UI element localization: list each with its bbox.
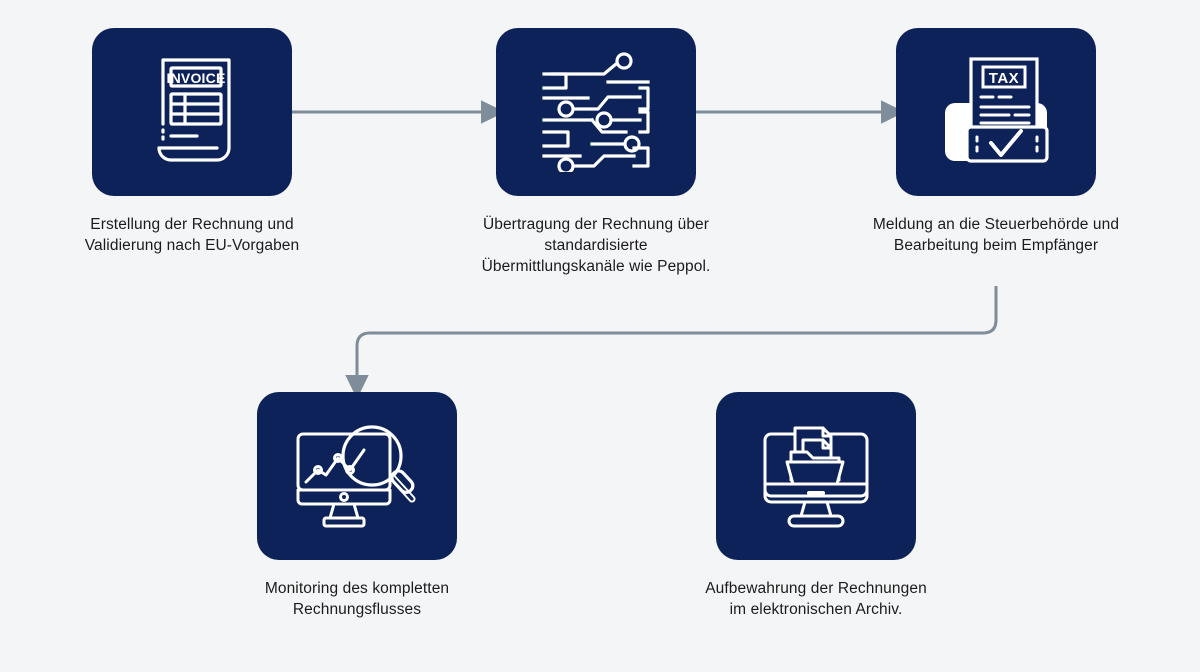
step-2-tile[interactable] — [496, 28, 696, 196]
invoice-document-icon: INVOICE — [137, 52, 247, 172]
step-5-tile[interactable] — [716, 392, 916, 560]
step-node-4[interactable]: Monitoring des kompletten Rechnungsfluss… — [257, 392, 457, 620]
step-5-caption: Aufbewahrung der Rechnungen im elektroni… — [701, 578, 931, 620]
step-node-2[interactable]: Übertragung der Rechnung über standardis… — [496, 28, 696, 277]
monitor-chart-magnifier-icon — [294, 420, 420, 532]
tax-document-tray-check-icon: TAX — [937, 53, 1055, 171]
invoice-icon-label: INVOICE — [167, 70, 226, 86]
step-node-5[interactable]: Aufbewahrung der Rechnungen im elektroni… — [716, 392, 916, 620]
step-4-tile[interactable] — [257, 392, 457, 560]
monitor-folder-archive-icon — [761, 418, 871, 534]
step-1-caption: Erstellung der Rechnung und Validierung … — [72, 214, 312, 256]
step-3-caption: Meldung an die Steuerbehörde und Bearbei… — [866, 214, 1126, 256]
diagram-canvas: INVOICE Erstellung der Rechnung und Vali… — [0, 0, 1200, 672]
connector-3-4 — [357, 286, 996, 378]
step-2-caption: Übertragung der Rechnung über standardis… — [476, 214, 716, 277]
circuit-network-icon — [536, 52, 656, 172]
step-node-3[interactable]: TAX Meldung an die Steuerbehörde und Bea… — [896, 28, 1096, 256]
step-node-1[interactable]: INVOICE Erstellung der Rechnung und Vali… — [92, 28, 292, 256]
tax-icon-label: TAX — [989, 70, 1019, 87]
step-3-tile[interactable]: TAX — [896, 28, 1096, 196]
step-4-caption: Monitoring des kompletten Rechnungsfluss… — [232, 578, 482, 620]
step-1-tile[interactable]: INVOICE — [92, 28, 292, 196]
